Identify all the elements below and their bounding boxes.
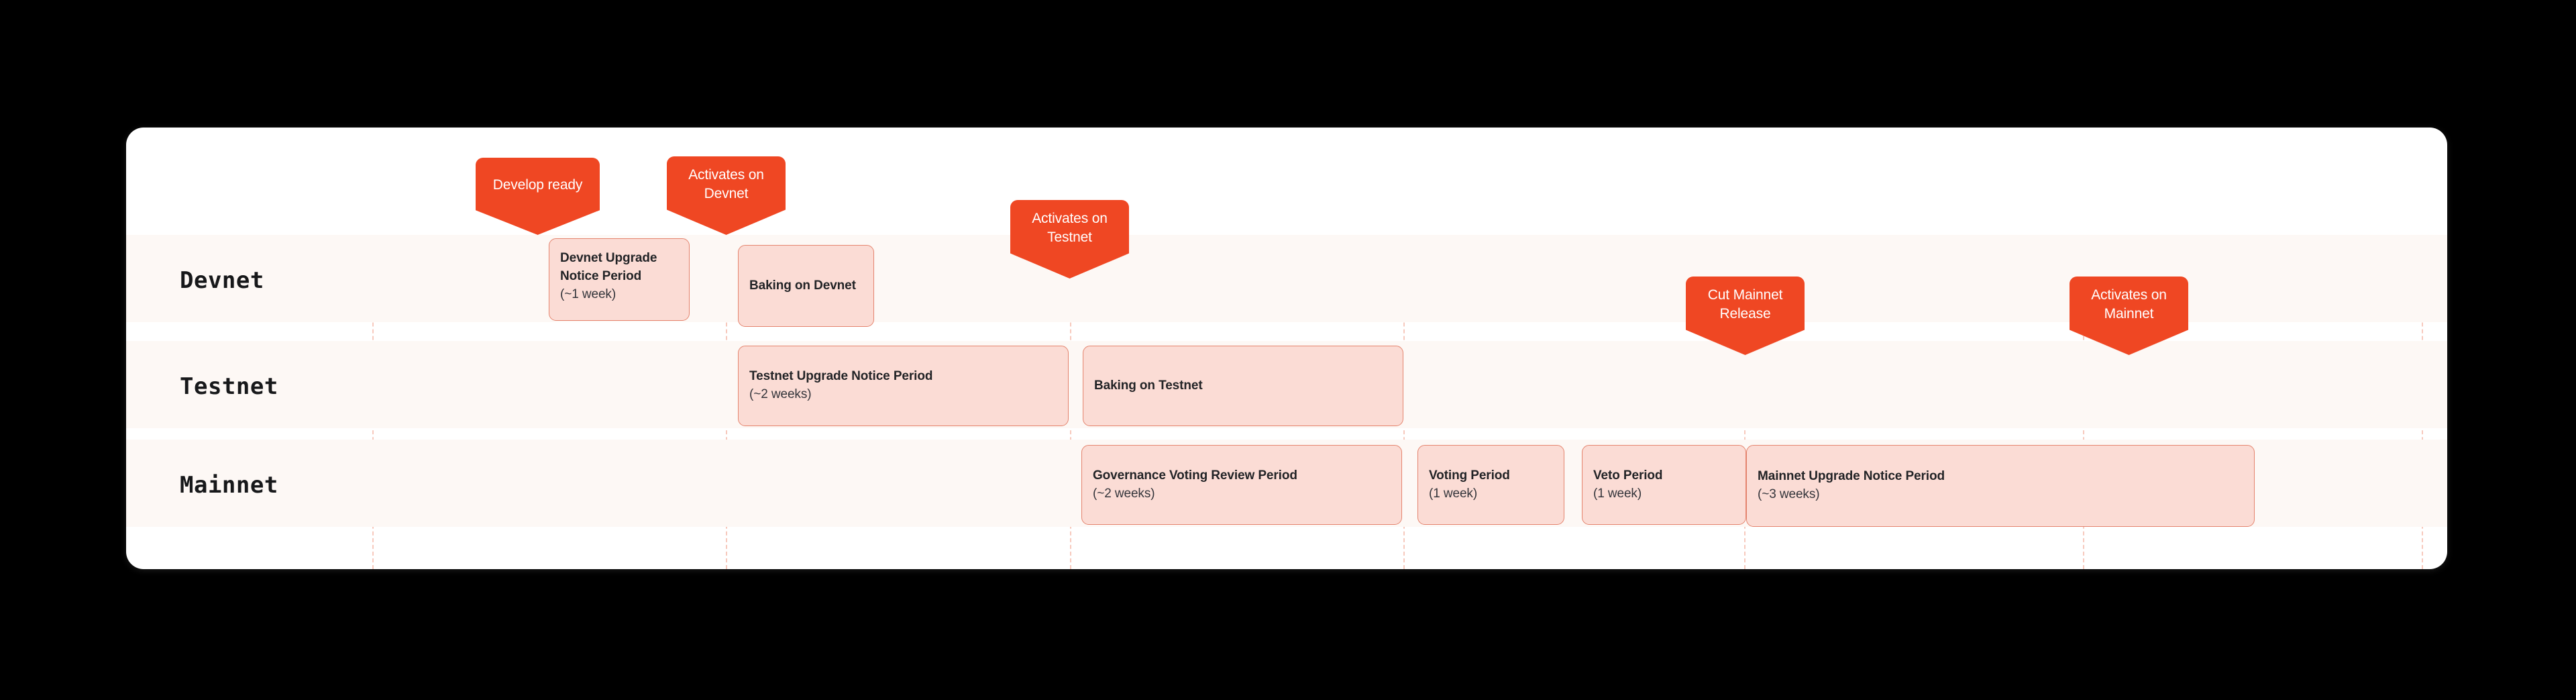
card-title: Baking on Devnet	[749, 277, 863, 295]
card-title: Governance Voting Review Period	[1093, 467, 1391, 485]
card-title: Veto Period	[1593, 467, 1735, 485]
row-label-testnet: Testnet	[180, 373, 278, 400]
row-label-mainnet: Mainnet	[180, 472, 278, 499]
card-duration: (1 week)	[1429, 485, 1553, 503]
card-title: Mainnet Upgrade Notice Period	[1758, 468, 2243, 486]
badge-text: Activates on Devnet	[688, 166, 764, 203]
card-title: Baking on Testnet	[1094, 377, 1392, 395]
badge-develop-ready[interactable]: Develop ready	[476, 158, 600, 235]
card-title: Voting Period	[1429, 467, 1553, 485]
card-testnet-upgrade-notice-period[interactable]: Testnet Upgrade Notice Period (~2 weeks)	[738, 346, 1069, 426]
badge-activates-on-devnet[interactable]: Activates on Devnet	[667, 156, 786, 235]
badge-text: Develop ready	[493, 176, 582, 195]
card-title: Devnet Upgrade Notice Period	[560, 250, 678, 286]
card-duration: (~2 weeks)	[749, 386, 1057, 404]
card-mainnet-upgrade-notice-period[interactable]: Mainnet Upgrade Notice Period (~3 weeks)	[1746, 445, 2255, 527]
card-duration: (~2 weeks)	[1093, 485, 1391, 503]
card-governance-voting-review-period[interactable]: Governance Voting Review Period (~2 week…	[1081, 445, 1402, 525]
badge-text: Activates on Testnet	[1032, 209, 1108, 246]
card-baking-on-devnet[interactable]: Baking on Devnet	[738, 245, 874, 327]
card-voting-period[interactable]: Voting Period (1 week)	[1417, 445, 1564, 525]
row-label-devnet: Devnet	[180, 267, 264, 294]
badge-text: Cut Mainnet Release	[1708, 286, 1783, 323]
badge-text: Activates on Mainnet	[2091, 286, 2167, 323]
card-duration: (~1 week)	[560, 286, 678, 304]
card-duration: (1 week)	[1593, 485, 1735, 503]
card-title: Testnet Upgrade Notice Period	[749, 368, 1057, 386]
card-baking-on-testnet[interactable]: Baking on Testnet	[1083, 346, 1403, 426]
card-veto-period[interactable]: Veto Period (1 week)	[1582, 445, 1746, 525]
card-devnet-upgrade-notice-period[interactable]: Devnet Upgrade Notice Period (~1 week)	[549, 238, 690, 321]
card-duration: (~3 weeks)	[1758, 486, 2243, 504]
timeline-panel: Devnet Testnet Mainnet Devnet Upgrade No…	[126, 128, 2447, 569]
